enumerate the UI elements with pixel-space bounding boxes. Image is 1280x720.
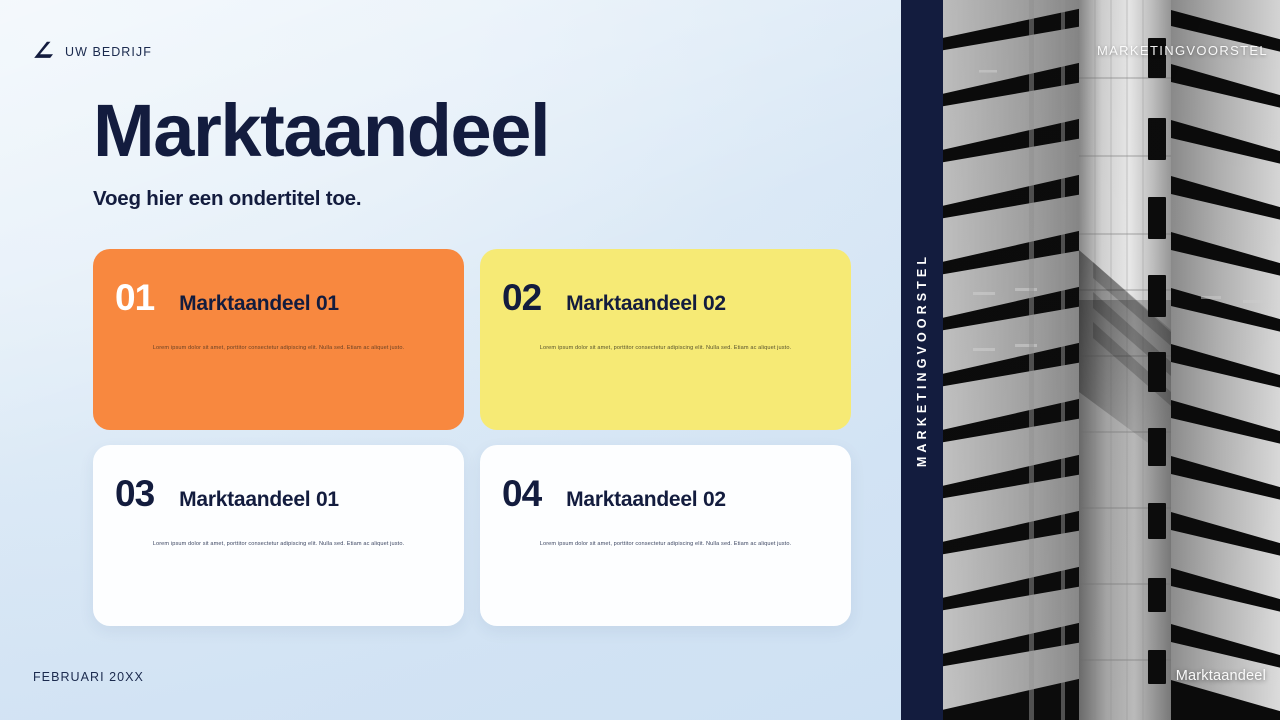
card-number: 03 (115, 475, 154, 512)
market-share-card-01[interactable]: 01 Marktaandeel 01 Lorem ipsum dolor sit… (93, 249, 464, 430)
angular-chevron-logo-icon (33, 41, 56, 62)
brand-lockup[interactable]: UW BEDRIJF (33, 41, 152, 62)
footer-date: FEBRUARI 20XX (33, 670, 144, 684)
market-share-card-04[interactable]: 04 Marktaandeel 02 Lorem ipsum dolor sit… (480, 445, 851, 626)
photo-bottom-label: Marktaandeel (1176, 668, 1266, 684)
building-facade-photo: MARKETINGVOORSTEL Marktaandeel (943, 0, 1280, 720)
card-title: Marktaandeel 02 (566, 489, 726, 510)
photo-top-label: MARKETINGVOORSTEL (1097, 43, 1268, 58)
page-subtitle: Voeg hier een ondertitel toe. (93, 187, 549, 211)
card-number: 02 (502, 279, 541, 316)
market-share-card-grid: 01 Marktaandeel 01 Lorem ipsum dolor sit… (93, 249, 850, 626)
card-title: Marktaandeel 01 (179, 293, 339, 314)
card-number: 01 (115, 279, 154, 316)
card-title: Marktaandeel 01 (179, 489, 339, 510)
market-share-card-03[interactable]: 03 Marktaandeel 01 Lorem ipsum dolor sit… (93, 445, 464, 626)
card-body-text: Lorem ipsum dolor sit amet, porttitor co… (480, 345, 851, 353)
card-body-text: Lorem ipsum dolor sit amet, porttitor co… (480, 541, 851, 549)
brand-name: UW BEDRIJF (65, 45, 152, 59)
card-header: 02 Marktaandeel 02 (502, 279, 829, 316)
slide-canvas: UW BEDRIJF Marktaandeel Voeg hier een on… (0, 0, 1280, 720)
card-header: 01 Marktaandeel 01 (115, 279, 442, 316)
card-header: 03 Marktaandeel 01 (115, 475, 442, 512)
page-title: Marktaandeel (93, 95, 549, 166)
market-share-card-02[interactable]: 02 Marktaandeel 02 Lorem ipsum dolor sit… (480, 249, 851, 430)
card-header: 04 Marktaandeel 02 (502, 475, 829, 512)
vertical-navy-bar: MARKETINGVOORSTEL (901, 0, 943, 720)
card-number: 04 (502, 475, 541, 512)
heading-block: Marktaandeel Voeg hier een ondertitel to… (93, 95, 549, 211)
card-body-text: Lorem ipsum dolor sit amet, porttitor co… (93, 345, 464, 353)
card-body-text: Lorem ipsum dolor sit amet, porttitor co… (93, 541, 464, 549)
vertical-proposal-label: MARKETINGVOORSTEL (915, 253, 929, 467)
card-title: Marktaandeel 02 (566, 293, 726, 314)
